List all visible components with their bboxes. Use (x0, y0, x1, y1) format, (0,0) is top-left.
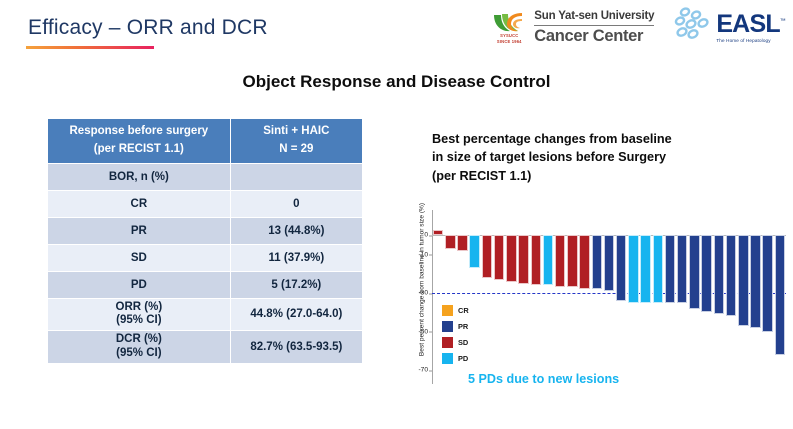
easl-name: EASL™ (716, 12, 785, 37)
table-header-response-line2: (per RECIST 1.1) (50, 141, 228, 159)
table-cell-label-line2: (95% CI) (52, 314, 226, 328)
chart-heading: Best percentage changes from baseline in… (432, 130, 777, 185)
table-header-response-line1: Response before surgery (50, 123, 228, 141)
waterfall-bar (482, 235, 492, 277)
legend-item-cr: CR (442, 305, 469, 316)
table-row: CR0 (48, 190, 363, 217)
legend-swatch-icon (442, 337, 453, 348)
table-cell-label-line2: (95% CI) (52, 347, 226, 361)
sysucc-wordmark: Sun Yat-sen University Cancer Center (534, 11, 654, 44)
waterfall-bar (665, 235, 675, 303)
legend-swatch-icon (442, 305, 453, 316)
waterfall-bar (775, 235, 785, 355)
page-title: Efficacy – ORR and DCR (28, 16, 268, 40)
table-header-arm: Sinti + HAIC N = 29 (230, 119, 362, 164)
waterfall-bar (689, 235, 699, 308)
legend-label: CR (458, 306, 469, 315)
sysucc-university-name: Sun Yat-sen University (534, 11, 654, 26)
waterfall-bar (762, 235, 772, 331)
title-underline-rule (26, 46, 154, 49)
easl-logo: EASL™ The Home of Hepatology (672, 6, 785, 49)
table-cell-label: SD (48, 244, 231, 271)
table-cell-value: 0 (230, 190, 362, 217)
waterfall-bar (628, 235, 638, 303)
waterfall-bar (518, 235, 528, 283)
table-cell-label: ORR (%)(95% CI) (48, 298, 231, 331)
legend-label: PD (458, 354, 468, 363)
waterfall-bar (531, 235, 541, 285)
waterfall-bar (738, 235, 748, 326)
chart-plot-area: 0-10-30-50-70 (432, 216, 786, 380)
table-header-arm-line2: N = 29 (233, 141, 360, 159)
waterfall-bar (579, 235, 589, 289)
table-header-response: Response before surgery (per RECIST 1.1) (48, 119, 231, 164)
legend-label: PR (458, 322, 468, 331)
waterfall-bar (604, 235, 614, 291)
table-row: PD5 (17.2%) (48, 271, 363, 298)
waterfall-bar (457, 235, 467, 250)
legend-swatch-icon (442, 353, 453, 364)
waterfall-bar (677, 235, 687, 303)
legend-item-pd: PD (442, 353, 469, 364)
table-header-arm-line1: Sinti + HAIC (233, 123, 360, 141)
y-axis-tick-label: -30 (418, 290, 428, 297)
table-cell-label: CR (48, 190, 231, 217)
waterfall-bar (714, 235, 724, 314)
table-row: PR13 (44.8%) (48, 217, 363, 244)
table-cell-label-line1: ORR (%) (52, 301, 226, 315)
section-subtitle: Object Response and Disease Control (0, 72, 793, 92)
waterfall-bar (616, 235, 626, 301)
logo-bar: SYSUCC SINCE 1964 Sun Yat-sen University… (490, 6, 785, 49)
waterfall-bar (494, 235, 504, 279)
easl-wordmark: EASL™ The Home of Hepatology (716, 12, 785, 44)
easl-name-text: EASL (716, 10, 779, 38)
y-axis-tick-label: 0 (424, 232, 428, 239)
easl-cells-icon (672, 6, 714, 49)
waterfall-bar (592, 235, 602, 289)
chart-heading-line2: in size of target lesions before Surgery (432, 148, 777, 166)
sysucc-leaf-icon (492, 11, 526, 33)
table-cell-value: 82.7% (63.5-93.5) (230, 331, 362, 364)
waterfall-bar (726, 235, 736, 316)
response-summary-table: Response before surgery (per RECIST 1.1)… (47, 118, 363, 364)
sysucc-since-text: SINCE 1964 (497, 39, 522, 44)
sysucc-emblem: SYSUCC SINCE 1964 (490, 11, 528, 43)
waterfall-bar (567, 235, 577, 287)
chart-heading-line3: (per RECIST 1.1) (432, 167, 777, 185)
table-cell-value: 5 (17.2%) (230, 271, 362, 298)
table-cell-label: PD (48, 271, 231, 298)
chart-legend: CRPRSDPD (442, 305, 469, 364)
table-row: BOR, n (%) (48, 163, 363, 190)
y-axis-tick-label: -50 (418, 328, 428, 335)
y-axis-tick-label: -70 (418, 367, 428, 374)
waterfall-bar (653, 235, 663, 303)
table-row: SD11 (37.9%) (48, 244, 363, 271)
y-axis-tick-label: -10 (418, 251, 428, 258)
legend-swatch-icon (442, 321, 453, 332)
sysucc-center-name: Cancer Center (534, 26, 654, 45)
waterfall-bar (750, 235, 760, 328)
table-cell-label: DCR (%)(95% CI) (48, 331, 231, 364)
table-cell-label: BOR, n (%) (48, 163, 231, 190)
table-cell-label: PR (48, 217, 231, 244)
waterfall-chart: Best percent change from baseline in tum… (394, 188, 790, 418)
table-cell-value: 13 (44.8%) (230, 217, 362, 244)
table-row: DCR (%)(95% CI)82.7% (63.5-93.5) (48, 331, 363, 364)
waterfall-bar (555, 235, 565, 287)
bar-series (432, 216, 786, 380)
table-header: Response before surgery (per RECIST 1.1)… (48, 119, 363, 164)
legend-label: SD (458, 338, 468, 347)
waterfall-bar (701, 235, 711, 312)
waterfall-bar (543, 235, 553, 285)
chart-annotation-note: 5 PDs due to new lesions (468, 372, 619, 386)
table-row: ORR (%)(95% CI)44.8% (27.0-64.0) (48, 298, 363, 331)
waterfall-bar (469, 235, 479, 268)
legend-item-pr: PR (442, 321, 469, 332)
table-body: BOR, n (%)CR0PR13 (44.8%)SD11 (37.9%)PD5… (48, 163, 363, 363)
table-header-row: Response before surgery (per RECIST 1.1)… (48, 119, 363, 164)
y-axis-title: Best percent change from baseline in tum… (419, 195, 426, 365)
easl-trademark: ™ (780, 18, 785, 24)
waterfall-bar (433, 230, 443, 236)
table-cell-label-line1: DCR (%) (52, 333, 226, 347)
table-cell-value (230, 163, 362, 190)
legend-item-sd: SD (442, 337, 469, 348)
waterfall-bar (640, 235, 650, 303)
chart-heading-line1: Best percentage changes from baseline (432, 130, 777, 148)
table-cell-value: 44.8% (27.0-64.0) (230, 298, 362, 331)
waterfall-bar (506, 235, 516, 281)
sysucc-logo: SYSUCC SINCE 1964 Sun Yat-sen University… (490, 11, 654, 44)
waterfall-bar (445, 235, 455, 249)
table-cell-value: 11 (37.9%) (230, 244, 362, 271)
